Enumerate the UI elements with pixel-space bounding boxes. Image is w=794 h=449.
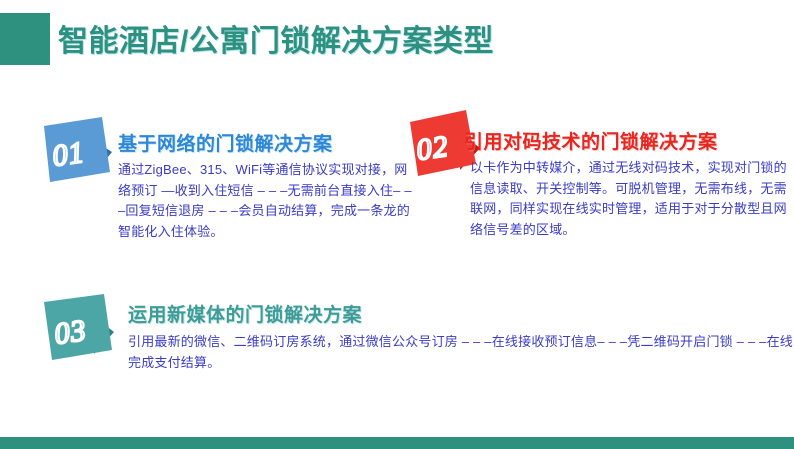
badge-number-03: 03 — [52, 314, 88, 351]
card-2-heading: 引用对码技术的门锁解决方案 — [464, 127, 718, 154]
badge-number-02: 02 — [414, 130, 450, 167]
badge-03: 03 — [36, 288, 118, 370]
header-accent-block — [0, 13, 50, 65]
page-header: 智能酒店/公寓门锁解决方案类型 — [0, 13, 794, 65]
card-1-body: 通过ZigBee、315、WiFi等通信协议实现对接，网络预订 —收到入住短信 … — [118, 160, 418, 242]
badge-number-01: 01 — [50, 136, 86, 173]
card-2-body: 以卡作为中转媒介，通过无线对码技术，实现对门锁的信息读取、开关控制等。可脱机管理… — [470, 158, 790, 240]
badge-01: 01 — [36, 112, 118, 194]
card-1-heading: 基于网络的门锁解决方案 — [118, 129, 333, 156]
page-title: 智能酒店/公寓门锁解决方案类型 — [58, 16, 494, 60]
card-3-heading: 运用新媒体的门锁解决方案 — [128, 300, 362, 327]
footer-accent-bar — [0, 437, 794, 449]
card-3-body: 引用最新的微信、二维码订房系统，通过微信公众号订房 – – –在线接收预订信息–… — [128, 332, 794, 373]
